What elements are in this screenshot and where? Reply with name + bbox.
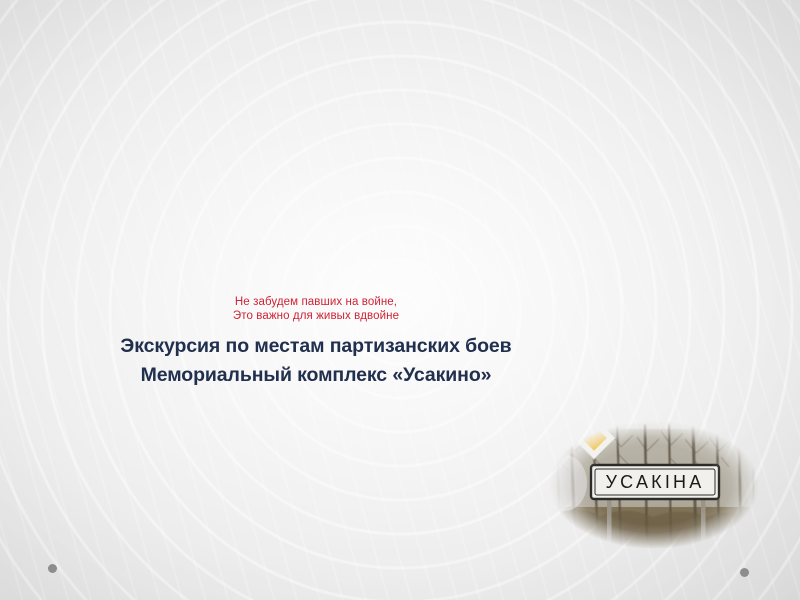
title-line-1: Экскурсия по местам партизанских боев [42,332,590,361]
slide-title: Экскурсия по местам партизанских боев Ме… [42,332,590,390]
road-sign-photo-illustration: УСАКІНА [549,421,759,549]
decorative-dot-left [48,564,57,573]
title-line-2: Мемориальный комплекс «Усакино» [42,361,590,390]
slide-text-block: Не забудем павших на войне, Это важно дл… [42,296,590,390]
locality-sign-text: УСАКІНА [606,472,705,492]
slide-photo: УСАКІНА [549,421,759,549]
epigraph-line-2: Это важно для живых вдвойне [42,310,590,324]
epigraph-line-1: Не забудем павших на войне, [42,296,590,310]
photo-oval-mask: УСАКІНА [549,421,759,549]
presentation-slide: Не забудем павших на войне, Это важно дл… [0,0,800,600]
decorative-dot-right [740,568,749,577]
locality-name-plate: УСАКІНА [591,465,719,499]
epigraph: Не забудем павших на войне, Это важно дл… [42,296,590,323]
